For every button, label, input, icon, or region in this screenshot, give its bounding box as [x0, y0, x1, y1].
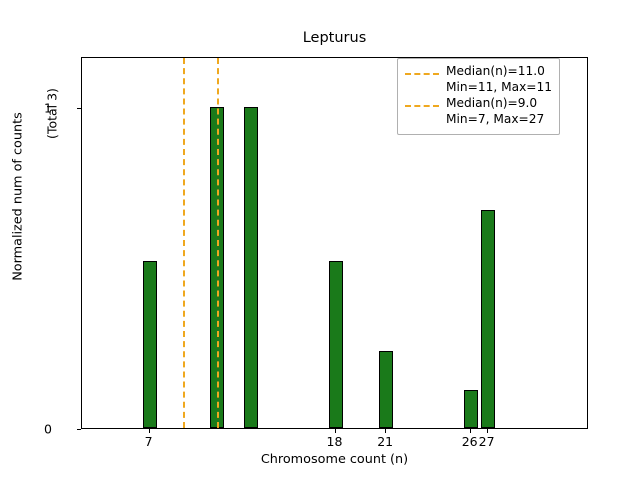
- median-line: [183, 58, 185, 428]
- y-tick-label: 0: [0, 422, 52, 437]
- x-tick-mark: [335, 429, 336, 433]
- legend[interactable]: Median(n)=11.0Min=11, Max=11Median(n)=9.…: [397, 58, 560, 135]
- dashed-line-icon: [405, 67, 439, 81]
- x-tick-mark: [149, 429, 150, 433]
- matplotlib-figure: Lepturus Normalized num of counts (Total…: [0, 0, 640, 480]
- legend-median-text: Median(n)=11.0: [446, 64, 552, 80]
- legend-range-text: Min=11, Max=11: [446, 80, 552, 96]
- x-axis-label: Chromosome count (n): [81, 452, 588, 467]
- x-tick-label: 7: [119, 434, 179, 449]
- x-tick-label: 21: [355, 434, 415, 449]
- page-title: Lepturus: [81, 30, 588, 46]
- x-tick-mark: [470, 429, 471, 433]
- legend-item-label: Median(n)=9.0Min=7, Max=27: [446, 96, 544, 127]
- legend-item-label: Median(n)=11.0Min=11, Max=11: [446, 64, 552, 95]
- dashed-line-icon: [405, 99, 439, 113]
- legend-range-text: Min=7, Max=27: [446, 112, 544, 128]
- x-tick-mark: [487, 429, 488, 433]
- legend-item: Median(n)=11.0Min=11, Max=11: [405, 64, 552, 95]
- median-line: [217, 58, 219, 428]
- x-tick-label: 27: [457, 434, 517, 449]
- legend-item: Median(n)=9.0Min=7, Max=27: [405, 96, 552, 127]
- legend-median-text: Median(n)=9.0: [446, 96, 544, 112]
- x-tick-mark: [385, 429, 386, 433]
- y-tick-mark: [77, 108, 81, 109]
- y-tick-label: 1: [0, 101, 52, 116]
- y-tick-mark: [77, 429, 81, 430]
- y-axis-label: Normalized num of counts: [11, 27, 26, 367]
